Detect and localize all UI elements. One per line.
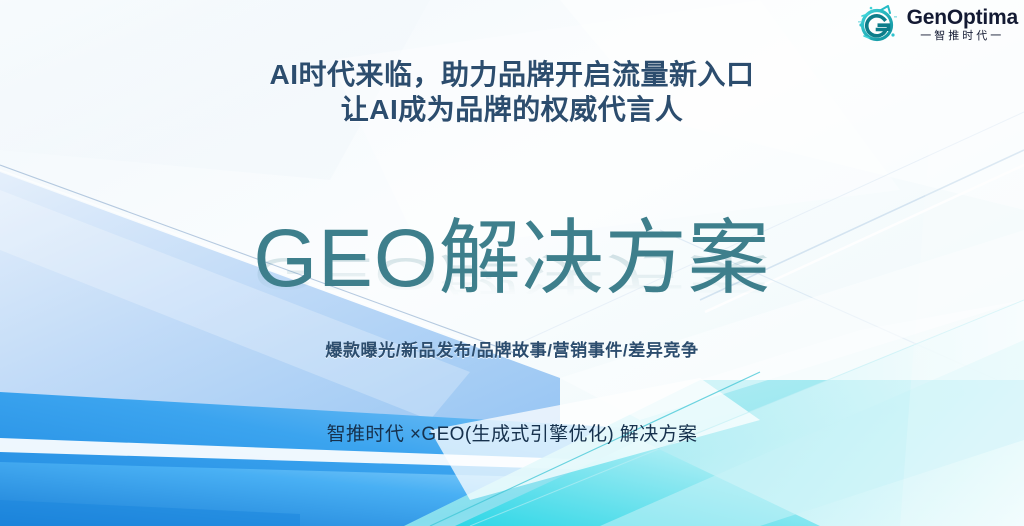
- geno-g-monogram-icon: [855, 2, 901, 46]
- brand-logo: GenOptima 一智推时代一: [855, 2, 1018, 46]
- logo-tagline: 一智推时代一: [920, 31, 1004, 42]
- presentation-slide: GenOptima 一智推时代一 AI时代来临，助力品牌开启流量新入口 让AI成…: [0, 0, 1024, 526]
- headline: AI时代来临，助力品牌开启流量新入口 让AI成为品牌的权威代言人: [0, 57, 1024, 128]
- headline-line-2: 让AI成为品牌的权威代言人: [0, 92, 1024, 127]
- logo-name: GenOptima: [907, 7, 1018, 28]
- subtitle: 爆款曝光/新品发布/品牌故事/营销事件/差异竞争: [0, 336, 1024, 361]
- headline-line-1: AI时代来临，助力品牌开启流量新入口: [0, 57, 1024, 92]
- footer-descriptor: 智推时代 ×GEO(生成式引擎优化) 解决方案: [0, 419, 1024, 446]
- logo-wordmark: GenOptima 一智推时代一: [907, 7, 1018, 42]
- page-title: GEO解决方案: [0, 218, 1024, 300]
